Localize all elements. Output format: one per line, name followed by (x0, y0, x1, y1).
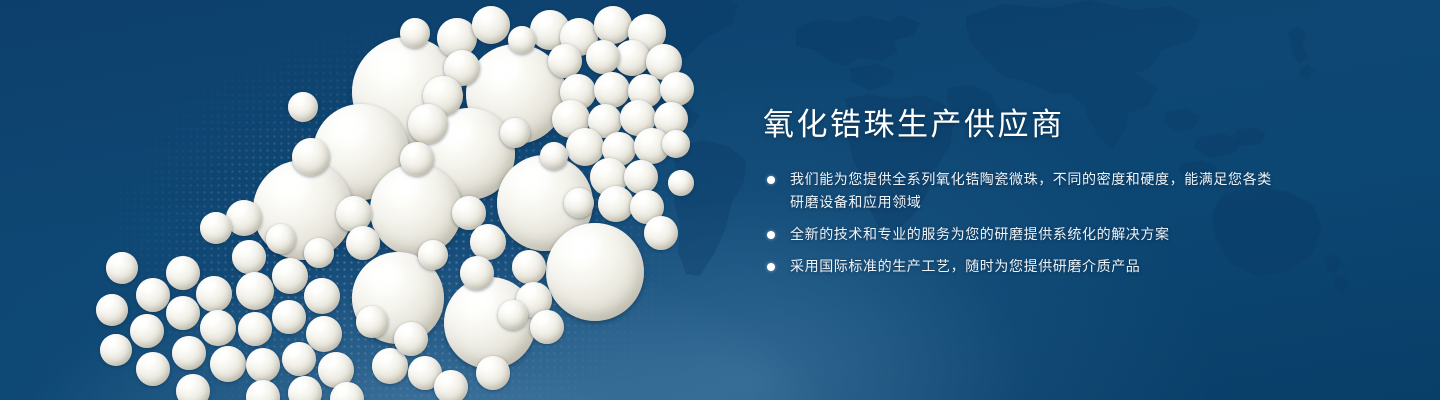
bullet-dot-icon (767, 263, 775, 271)
benefit-text-1: 我们能为您提供全系列氧化锆陶瓷微珠，不同的密度和硬度，能满足您各类研磨设备和应用… (790, 171, 1272, 210)
banner-copy: 氧化锆珠生产供应商 我们能为您提供全系列氧化锆陶瓷微珠，不同的密度和硬度，能满足… (763, 104, 1283, 287)
benefit-item-3: 采用国际标准的生产工艺，随时为您提供研磨介质产品 (763, 255, 1283, 278)
bullet-dot-icon (767, 231, 775, 239)
benefit-list: 我们能为您提供全系列氧化锆陶瓷微珠，不同的密度和硬度，能满足您各类研磨设备和应用… (763, 168, 1283, 278)
benefit-item-1: 我们能为您提供全系列氧化锆陶瓷微珠，不同的密度和硬度，能满足您各类研磨设备和应用… (763, 168, 1283, 214)
bullet-dot-icon (767, 176, 775, 184)
benefit-text-2: 全新的技术和专业的服务为您的研磨提供系统化的解决方案 (790, 226, 1170, 242)
hero-banner: 氧化锆珠生产供应商 我们能为您提供全系列氧化锆陶瓷微珠，不同的密度和硬度，能满足… (0, 0, 1440, 400)
benefit-item-2: 全新的技术和专业的服务为您的研磨提供系统化的解决方案 (763, 223, 1283, 246)
banner-headline: 氧化锆珠生产供应商 (763, 104, 1283, 146)
benefit-text-3: 采用国际标准的生产工艺，随时为您提供研磨介质产品 (790, 258, 1140, 274)
